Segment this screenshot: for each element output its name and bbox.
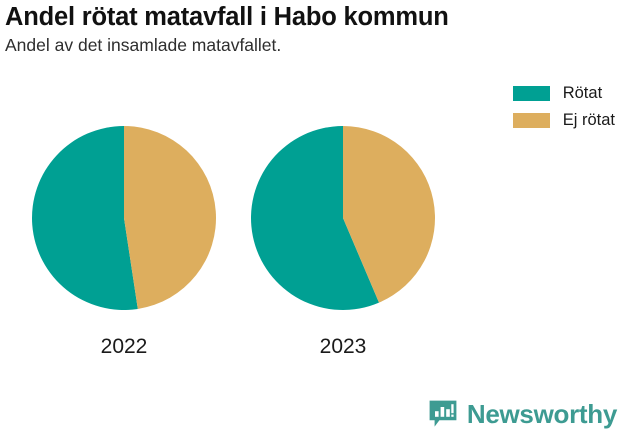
legend-label-rotat: Rötat [563, 84, 602, 103]
newsworthy-wordmark: Newsworthy [467, 400, 617, 428]
pie-chart-plot-area: 20222023 [0, 0, 631, 439]
pie-category-label-2023: 2023 [320, 335, 367, 358]
pie-2022 [32, 126, 216, 310]
legend-swatch-ej-rotat [513, 113, 550, 128]
pie-category-labels: 20222023 [101, 335, 367, 358]
chart-header: Andel rötat matavfall i Habo kommun Ande… [5, 2, 626, 56]
pie-2023 [251, 126, 435, 310]
page-title: Andel rötat matavfall i Habo kommun [5, 2, 626, 32]
bar-chart-speech-bubble-icon [428, 399, 458, 429]
pie-slice-2022-0[interactable] [32, 126, 138, 310]
chart-legend: Rötat Ej rötat [513, 84, 615, 130]
legend-swatch-rotat [513, 86, 550, 101]
legend-item-ej-rotat[interactable]: Ej rötat [513, 111, 615, 130]
pies-container [32, 126, 435, 310]
legend-label-ej-rotat: Ej rötat [563, 111, 615, 130]
pie-slice-2022-1[interactable] [124, 126, 216, 309]
pie-category-label-2022: 2022 [101, 335, 148, 358]
newsworthy-logo[interactable]: Newsworthy [428, 399, 617, 429]
legend-item-rotat[interactable]: Rötat [513, 84, 602, 103]
chart-subtitle: Andel av det insamlade matavfallet. [5, 34, 626, 56]
